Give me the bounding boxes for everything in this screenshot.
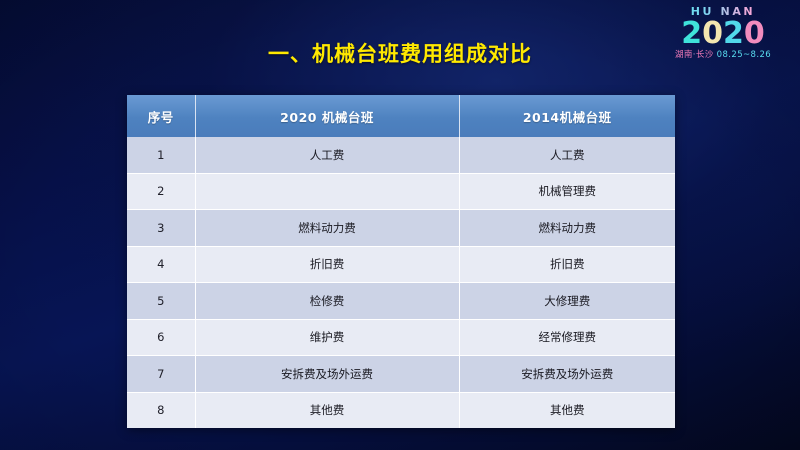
logo-date-range: 08.25~8.26 [717, 50, 771, 60]
cell-index: 6 [127, 319, 195, 356]
table-body: 1 人工费 人工费 2 机械管理费 3 燃料动力费 燃料动力费 4 折旧费 [127, 137, 675, 428]
cell-index: 7 [127, 356, 195, 393]
cell-index: 5 [127, 283, 195, 320]
cell-2014: 燃料动力费 [459, 210, 675, 247]
logo-year-digit-3: 2 [723, 16, 744, 51]
cell-index: 3 [127, 210, 195, 247]
table-row: 8 其他费 其他费 [127, 392, 675, 428]
logo-year: 2020 [658, 19, 788, 49]
logo-subtitle: 湖南·长沙08.25~8.26 [658, 51, 788, 60]
logo-year-digit-1: 2 [681, 16, 702, 51]
table-row: 3 燃料动力费 燃料动力费 [127, 210, 675, 247]
column-header-index: 序号 [127, 95, 195, 137]
cell-2014: 机械管理费 [459, 173, 675, 210]
slide-canvas: HU NAN 2020 湖南·长沙08.25~8.26 一、机械台班费用组成对比… [0, 0, 800, 450]
cell-2020: 检修费 [195, 283, 459, 320]
cell-2014: 经常修理费 [459, 319, 675, 356]
table-row: 5 检修费 大修理费 [127, 283, 675, 320]
logo-year-digit-4: 0 [744, 16, 765, 51]
cell-2020: 安拆费及场外运费 [195, 356, 459, 393]
table-row: 6 维护费 经常修理费 [127, 319, 675, 356]
cell-index: 4 [127, 246, 195, 283]
cell-2020: 燃料动力费 [195, 210, 459, 247]
cell-2020: 维护费 [195, 319, 459, 356]
comparison-table: 序号 2020 机械台班 2014机械台班 1 人工费 人工费 2 机械管理费 … [127, 95, 675, 428]
cell-2014: 人工费 [459, 137, 675, 173]
cell-2014: 其他费 [459, 392, 675, 428]
cell-2020: 人工费 [195, 137, 459, 173]
table-header: 序号 2020 机械台班 2014机械台班 [127, 95, 675, 137]
cell-2014: 安拆费及场外运费 [459, 356, 675, 393]
table-row: 1 人工费 人工费 [127, 137, 675, 173]
cell-2014: 折旧费 [459, 246, 675, 283]
cell-index: 2 [127, 173, 195, 210]
cell-2020 [195, 173, 459, 210]
cell-index: 1 [127, 137, 195, 173]
logo-city: 长沙 [696, 50, 714, 60]
cell-2020: 其他费 [195, 392, 459, 428]
column-header-2020: 2020 机械台班 [195, 95, 459, 137]
table-row: 4 折旧费 折旧费 [127, 246, 675, 283]
table-row: 2 机械管理费 [127, 173, 675, 210]
column-header-2014: 2014机械台班 [459, 95, 675, 137]
event-logo: HU NAN 2020 湖南·长沙08.25~8.26 [658, 6, 788, 60]
comparison-table-container: 序号 2020 机械台班 2014机械台班 1 人工费 人工费 2 机械管理费 … [127, 95, 675, 428]
table-header-row: 序号 2020 机械台班 2014机械台班 [127, 95, 675, 137]
logo-year-digit-2: 0 [702, 16, 723, 51]
cell-2020: 折旧费 [195, 246, 459, 283]
cell-index: 8 [127, 392, 195, 428]
cell-2014: 大修理费 [459, 283, 675, 320]
logo-province: 湖南 [675, 50, 693, 60]
table-row: 7 安拆费及场外运费 安拆费及场外运费 [127, 356, 675, 393]
